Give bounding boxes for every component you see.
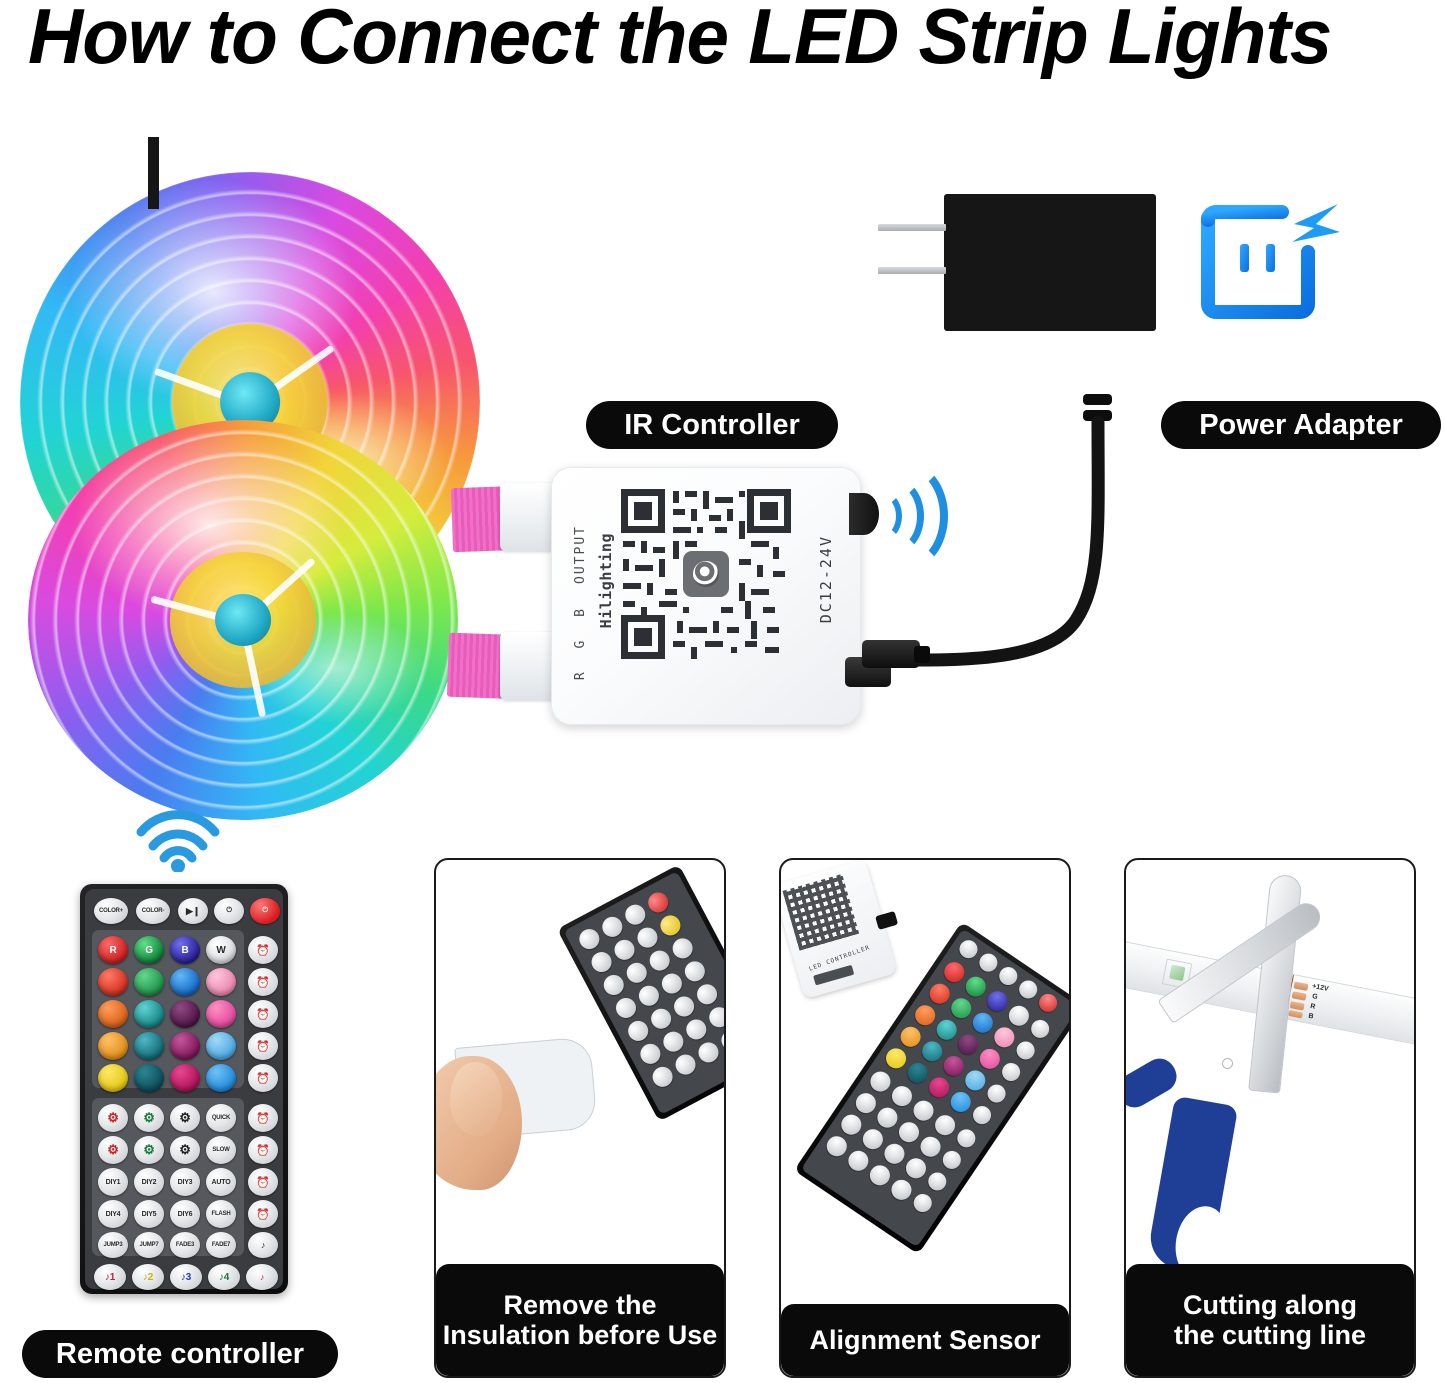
controller-input-rating: DC12-24V <box>817 535 835 623</box>
remote-button-fade3[interactable]: FADE3 <box>170 1232 200 1258</box>
remote-button-color-swatch[interactable] <box>206 1064 236 1092</box>
remote-button-color-swatch[interactable] <box>98 1064 128 1092</box>
remote-button-jump3[interactable]: JUMP3 <box>98 1232 128 1258</box>
dc-barrel-collar <box>914 646 930 663</box>
strip-pad <box>1292 991 1307 1001</box>
remote-button-color-swatch[interactable] <box>206 1000 236 1028</box>
remote-button-music-mic-side[interactable]: ♪ <box>248 1232 278 1258</box>
panel-alignment-sensor: LED CONTROLLER <box>779 858 1071 1378</box>
remote-button-clock-2[interactable]: ⏰ <box>248 1136 278 1164</box>
remote-button-brightness-down[interactable]: ⚙ <box>134 1136 164 1164</box>
remote-button-music-3[interactable]: ♪3 <box>170 1264 202 1290</box>
strip-pad <box>1290 1001 1305 1011</box>
remote-button-brightness-up[interactable]: ⚙ <box>134 1104 164 1132</box>
remote-button-color-swatch[interactable] <box>170 1064 200 1092</box>
remote-button-timer-1[interactable]: ⏰ <box>248 936 278 964</box>
remote-button-music-2[interactable]: ♪2 <box>132 1264 164 1290</box>
dc-barrel-connector <box>862 640 920 668</box>
qr-center-logo <box>683 551 729 597</box>
scissor-pivot <box>1222 1058 1233 1069</box>
qr-eye-tr <box>747 489 791 533</box>
qr-eye-tl <box>621 489 665 533</box>
remote-button-diy4[interactable]: DIY4 <box>98 1200 128 1228</box>
remote-button-music-4[interactable]: ♪4 <box>208 1264 240 1290</box>
remote-button-diy1[interactable]: DIY1 <box>98 1168 128 1196</box>
remote-button-blue[interactable]: B <box>170 936 200 964</box>
remote-button-color-swatch[interactable] <box>134 1032 164 1060</box>
lightning-bolt-icon <box>1292 204 1340 242</box>
led-strip-reel-bottom <box>28 420 458 820</box>
controller-brand-label: Hilighting <box>597 533 615 628</box>
remote-button-auto[interactable]: AUTO <box>206 1168 236 1196</box>
panel-caption-remove-insulation: Remove the Insulation before Use <box>436 1264 724 1376</box>
remote-button-color-swatch[interactable] <box>170 968 200 996</box>
panel-remove-insulation: Remove the Insulation before Use <box>434 858 726 1378</box>
thumb <box>450 1062 502 1136</box>
wifi-signal-icon <box>133 810 223 872</box>
remote-button-clock-3[interactable]: ⏰ <box>248 1168 278 1196</box>
controller-output-channels: R G B <box>573 601 588 680</box>
controller-output-label: OUTPUT <box>573 525 588 584</box>
remote-button-color-swatch[interactable] <box>170 1000 200 1028</box>
remote-button-brightness-up[interactable]: ⚙ <box>170 1104 200 1132</box>
panel3-caption-line2: the cutting line <box>1174 1320 1366 1351</box>
remote-controller-device[interactable]: COLOR+ COLOR- ▶❙ ⏻ ⏻ R G B W ⚙ ⚙ ⚙ QUICK… <box>80 884 288 1294</box>
qr-code <box>621 489 791 659</box>
remote-button-color-swatch[interactable] <box>98 1032 128 1060</box>
remote-button-timer-4[interactable]: ⏰ <box>248 1032 278 1060</box>
reel-hub-core <box>215 594 271 646</box>
strip-pad <box>1293 981 1308 991</box>
plug-prong-top <box>878 224 946 231</box>
remote-button-flash[interactable]: FLASH <box>206 1200 236 1228</box>
strip-pad-label-b: B <box>1308 1013 1314 1021</box>
remote-button-white[interactable]: W <box>206 936 236 964</box>
remote-button-green[interactable]: G <box>134 936 164 964</box>
panel2-qr <box>782 874 859 951</box>
remote-button-color-swatch[interactable] <box>98 968 128 996</box>
remote-button-color-swatch[interactable] <box>170 1032 200 1060</box>
power-adapter-badge-label: Power Adapter <box>1199 409 1403 441</box>
panel2-caption-line1: Alignment Sensor <box>809 1325 1040 1356</box>
remote-button-timer-5[interactable]: ⏰ <box>248 1064 278 1092</box>
remote-button-color-swatch[interactable] <box>134 1064 164 1092</box>
ir-controller-device: OUTPUT R G B Hilighting DC12-24V <box>551 467 861 725</box>
strip-pad-label-r: R <box>1310 1003 1316 1011</box>
panel-caption-alignment-sensor: Alignment Sensor <box>781 1304 1069 1376</box>
panel3-caption-line1: Cutting along <box>1174 1290 1366 1321</box>
strip-pad <box>1288 1010 1303 1019</box>
remote-button-timer-3[interactable]: ⏰ <box>248 1000 278 1028</box>
ir-controller-badge: IR Controller <box>586 401 838 449</box>
remote-button-diy3[interactable]: DIY3 <box>170 1168 200 1196</box>
power-outlet-icon <box>1196 196 1346 348</box>
remote-controller-badge-label: Remote controller <box>56 1338 304 1370</box>
remote-button-music-mic[interactable]: ♪ <box>246 1264 278 1290</box>
remote-button-brightness-down[interactable]: ⚙ <box>98 1136 128 1164</box>
panel-caption-cutting: Cutting along the cutting line <box>1126 1264 1414 1376</box>
power-adapter-badge: Power Adapter <box>1161 401 1441 449</box>
remote-button-red[interactable]: R <box>98 936 128 964</box>
remote-button-off[interactable]: ⏻ <box>214 898 244 924</box>
remote-button-diy2[interactable]: DIY2 <box>134 1168 164 1196</box>
strip-pad-label-g: G <box>1312 993 1319 1001</box>
remote-button-color-plus[interactable]: COLOR+ <box>94 898 128 924</box>
remote-button-play-pause[interactable]: ▶❙ <box>178 898 208 924</box>
remote-button-color-swatch[interactable] <box>98 1000 128 1028</box>
remote-button-diy6[interactable]: DIY6 <box>170 1200 200 1228</box>
remote-button-color-swatch[interactable] <box>206 968 236 996</box>
remote-button-slow[interactable]: SLOW <box>206 1136 236 1164</box>
remote-button-brightness-down[interactable]: ⚙ <box>170 1136 200 1164</box>
outlet-slot-left <box>1240 244 1249 272</box>
remote-button-timer-2[interactable]: ⏰ <box>248 968 278 996</box>
remote-button-jump7[interactable]: JUMP7 <box>134 1232 164 1258</box>
remote-button-quick[interactable]: QUICK <box>206 1104 236 1132</box>
panel1-caption-line1: Remove the <box>443 1290 718 1321</box>
remote-button-color-minus[interactable]: COLOR- <box>136 898 170 924</box>
panel2-controller: LED CONTROLLER <box>779 859 897 999</box>
qr-eye-bl <box>621 615 665 659</box>
power-adapter-device <box>944 194 1156 331</box>
remote-button-color-swatch[interactable] <box>134 1000 164 1028</box>
strip-pad-label-12v: +12V <box>1311 983 1329 993</box>
page-title: How to Connect the LED Strip Lights <box>28 0 1410 78</box>
remote-button-music-1[interactable]: ♪1 <box>94 1264 126 1290</box>
remote-button-on[interactable]: ⏻ <box>250 898 280 924</box>
panel2-ir-receiver-icon <box>875 911 898 930</box>
plug-prong-bottom <box>878 267 946 274</box>
panel-cutting-line: +12V G R B Cutting along the cutting lin… <box>1124 858 1416 1378</box>
remote-button-color-swatch[interactable] <box>206 1032 236 1060</box>
adapter-cable-stub <box>148 137 159 209</box>
power-cable <box>840 330 1170 680</box>
remote-button-brightness-up[interactable]: ⚙ <box>98 1104 128 1132</box>
remote-button-color-swatch[interactable] <box>134 968 164 996</box>
outlet-slot-right <box>1266 244 1275 272</box>
remote-button-fade7[interactable]: FADE7 <box>206 1232 236 1258</box>
remote-button-clock-4[interactable]: ⏰ <box>248 1200 278 1228</box>
panel1-caption-line2: Insulation before Use <box>443 1320 718 1351</box>
remote-controller-badge: Remote controller <box>22 1330 338 1378</box>
remote-button-diy5[interactable]: DIY5 <box>134 1200 164 1228</box>
led-chip-die <box>1169 965 1185 981</box>
ir-controller-badge-label: IR Controller <box>624 409 800 441</box>
remote-button-clock-1[interactable]: ⏰ <box>248 1104 278 1132</box>
